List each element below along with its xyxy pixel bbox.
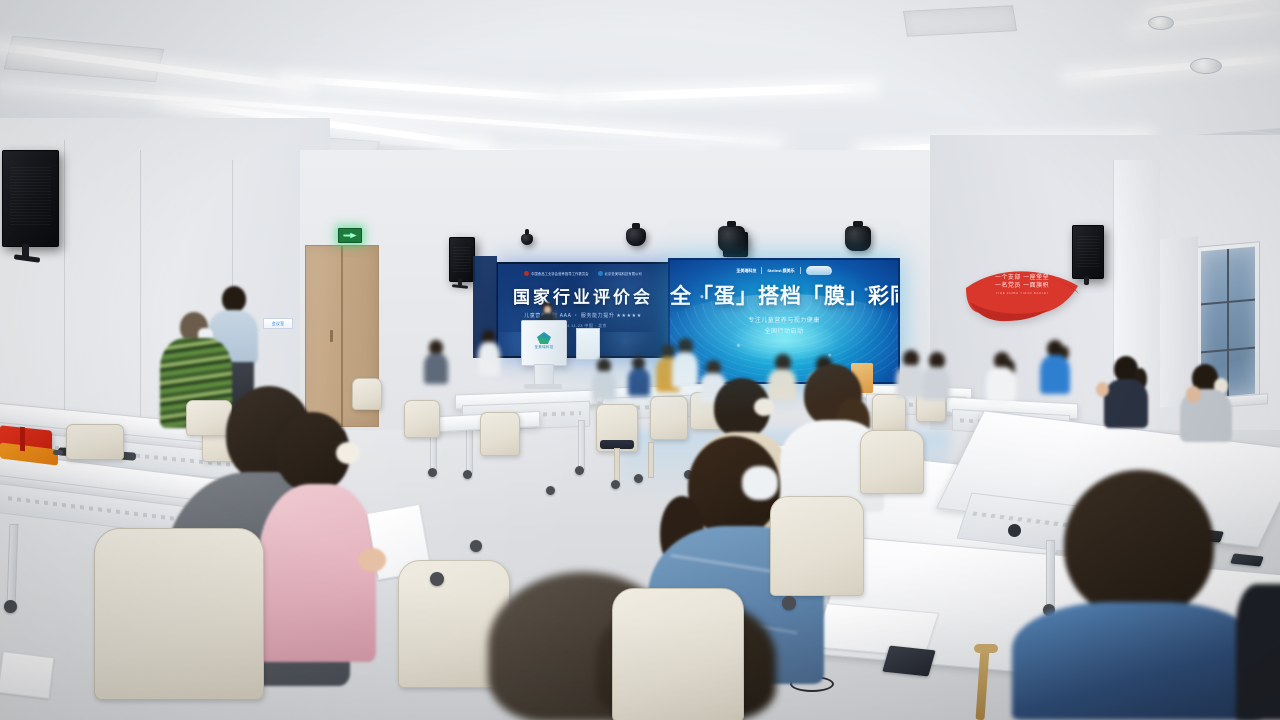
girl-navy-hoodie — [1104, 356, 1148, 428]
table-caster — [634, 474, 643, 483]
chair-leg — [614, 448, 620, 484]
stacking-chair[interactable] — [860, 430, 924, 494]
chair-caster — [430, 572, 444, 586]
room-name-plate-label: 会议室 — [272, 321, 285, 327]
girl-pink-top — [258, 412, 376, 662]
lectern: 圣美瑞科技 — [521, 320, 567, 366]
stacking-chair[interactable] — [352, 378, 382, 410]
attendee — [424, 340, 448, 384]
wall-speaker — [449, 237, 475, 282]
lectern-foot — [524, 384, 562, 389]
party-flag-line1: 一个支部 一座堡垒 — [986, 274, 1058, 282]
party-flag-pinyin: YIGE ZHIBU YIZUO BAOLEI — [986, 291, 1058, 295]
attendee — [896, 350, 924, 398]
left-screen-subtitle: 儿童营养品牌 AAA ・ 服务能力提升 ★★★★★ — [498, 313, 668, 320]
chair-caster — [470, 540, 482, 552]
wall-speaker — [2, 150, 59, 247]
hair-tie — [336, 442, 360, 464]
attendee-right-dark — [1236, 584, 1280, 720]
org-logo-2: 北京圣美瑞科技有限公司 — [598, 271, 642, 276]
girl-white-top — [986, 352, 1016, 402]
table-caster — [463, 470, 472, 479]
table-leg — [466, 424, 473, 474]
side-display-stand — [576, 328, 600, 360]
head — [1064, 470, 1214, 618]
conference-room-photo: 会议室 一个支部 一座堡垒 一名党员 一面旗帜 YIGE ZHIBU YIZUO… — [0, 0, 1280, 720]
stage-spotlight — [845, 226, 871, 251]
stacking-chair[interactable] — [94, 528, 264, 700]
lectern-logo-mark — [537, 332, 551, 344]
stacking-chair[interactable] — [480, 412, 520, 456]
table-caster — [4, 600, 17, 613]
door-handle[interactable] — [330, 330, 333, 342]
party-flag-line2: 一名党员 一面旗帜 — [986, 282, 1058, 290]
left-screen-logo-row: 中国食品工业协会营养指导工作委员会 北京圣美瑞科技有限公司 — [498, 271, 668, 276]
smoke-detector — [1148, 16, 1174, 30]
girl-blue-jacket — [1040, 340, 1070, 394]
wall-seam — [64, 140, 65, 440]
lectern-logo-label: 圣美瑞科技 — [535, 345, 554, 350]
chair-caster — [611, 480, 620, 489]
cane-handle — [974, 644, 998, 653]
table-leg — [578, 420, 585, 470]
stacking-chair[interactable] — [404, 400, 440, 438]
table-caster — [546, 486, 555, 495]
room-name-plate: 会议室 — [263, 318, 293, 329]
attendee — [592, 358, 616, 400]
umbrella-handle — [53, 450, 63, 455]
hair-tie — [754, 398, 774, 416]
stage-spotlight — [718, 226, 745, 252]
face-mask — [742, 466, 778, 500]
speaker-bracket — [1084, 276, 1089, 285]
org-logo-1-label: 中国食品工业协会营养指导工作委员会 — [531, 271, 589, 276]
girl-grey-hoodie — [1180, 364, 1232, 442]
folder-strap — [20, 427, 25, 452]
stacking-chair[interactable] — [770, 496, 864, 596]
raised-hand — [1096, 382, 1109, 397]
table-caster — [575, 466, 584, 475]
resting-hand — [1186, 386, 1201, 403]
torso — [258, 484, 376, 662]
torso — [1012, 602, 1262, 720]
chair-caster — [782, 596, 796, 610]
lectern-logo: 圣美瑞科技 — [522, 332, 566, 350]
exit-sign-icon — [338, 228, 362, 243]
boy-blue-shirt — [1012, 470, 1262, 720]
hand — [358, 548, 386, 572]
left-screen-title: 国家行业评价会 — [498, 288, 668, 308]
table-caster — [428, 468, 437, 477]
stacking-chair[interactable] — [612, 588, 744, 720]
org-logo-2-label: 北京圣美瑞科技有限公司 — [605, 271, 642, 276]
stage-spotlight — [626, 228, 646, 246]
org-logo-1: 中国食品工业协会营养指导工作委员会 — [524, 271, 589, 276]
paper-handout[interactable] — [0, 651, 54, 699]
smartphone-on-table[interactable] — [882, 646, 935, 677]
microphone-icon — [554, 311, 557, 320]
attendee — [922, 352, 950, 400]
wall-seam — [140, 150, 141, 450]
attendee — [478, 330, 500, 376]
stacking-chair[interactable] — [650, 396, 688, 440]
party-flag-text: 一个支部 一座堡垒 一名党员 一面旗帜 YIGE ZHIBU YIZUO BAO… — [986, 274, 1058, 295]
smoke-detector — [1190, 58, 1222, 74]
attendee-child — [628, 356, 650, 396]
stacking-chair[interactable] — [66, 424, 124, 460]
